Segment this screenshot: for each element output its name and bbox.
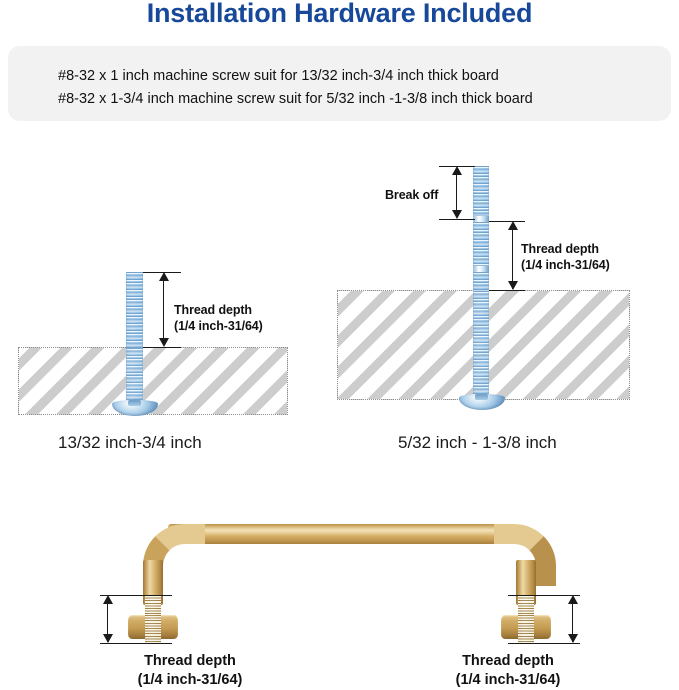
handle-left-arrow-down-icon bbox=[103, 634, 113, 643]
breakoff-arrow-down-icon bbox=[452, 210, 462, 219]
thread-depth-ext-line-bottom-2 bbox=[489, 290, 525, 291]
handle-right-label-line2: (1/4 inch-31/64) bbox=[413, 671, 603, 690]
thread-depth-arrow-down-icon-2 bbox=[508, 281, 518, 290]
handle-foot-thread-right-lower bbox=[518, 615, 534, 643]
thread-depth-label-line1: Thread depth bbox=[174, 302, 263, 318]
handle-top-bar bbox=[168, 524, 511, 544]
breakoff-ext-line-bottom bbox=[439, 219, 475, 220]
handle-right-label-line1: Thread depth bbox=[413, 652, 603, 671]
handle-right-arrow-up-icon bbox=[568, 595, 578, 604]
dimension-arrow-down-icon bbox=[159, 338, 169, 347]
thread-depth-label: Thread depth (1/4 inch-31/64) bbox=[174, 302, 263, 334]
handle-left-thread-depth-label: Thread depth (1/4 inch-31/64) bbox=[95, 652, 285, 690]
handle-foot-thread-left-lower bbox=[145, 615, 161, 643]
screw-breakoff-segment bbox=[473, 166, 489, 216]
spec-line-long-screw: #8-32 x 1-3/4 inch machine screw suit fo… bbox=[58, 91, 533, 107]
screw-shank-embedded-long bbox=[473, 291, 489, 400]
thread-depth-label-2: Thread depth (1/4 inch-31/64) bbox=[521, 241, 610, 273]
thread-depth-label-2-line2: (1/4 inch-31/64) bbox=[521, 257, 610, 273]
breakoff-arrow-up-icon bbox=[452, 166, 462, 175]
dimension-arrow-up-icon bbox=[159, 272, 169, 281]
screw-shank-exposed bbox=[126, 272, 143, 348]
screw-shank-mid bbox=[473, 222, 489, 266]
handle-left-arrow-up-icon bbox=[103, 595, 113, 604]
dimension-ext-line-bottom bbox=[143, 347, 181, 348]
spec-line-short-screw: #8-32 x 1 inch machine screw suit for 13… bbox=[58, 68, 499, 84]
page-title: Installation Hardware Included bbox=[0, 0, 679, 29]
handle-left-ext-line-bottom bbox=[100, 643, 172, 644]
screw-shank-embedded bbox=[126, 348, 143, 407]
thread-depth-ext-line-top-2 bbox=[489, 221, 525, 222]
thread-depth-label-2-line1: Thread depth bbox=[521, 241, 610, 257]
thread-depth-arrow-up-icon-2 bbox=[508, 221, 518, 230]
thread-depth-dimension-line-2 bbox=[512, 223, 513, 289]
handle-left-label-line2: (1/4 inch-31/64) bbox=[95, 671, 285, 690]
breakoff-label: Break off bbox=[385, 187, 438, 203]
handle-right-ext-line-bottom bbox=[508, 643, 580, 644]
board-thickness-caption: 13/32 inch-3/4 inch bbox=[58, 433, 202, 453]
screw-head-slot-long bbox=[475, 394, 488, 400]
handle-right-arrow-down-icon bbox=[568, 634, 578, 643]
screw-shank-above-board bbox=[473, 272, 489, 291]
thread-depth-label-line2: (1/4 inch-31/64) bbox=[174, 318, 263, 334]
handle-left-label-line1: Thread depth bbox=[95, 652, 285, 671]
board-thickness-caption-2: 5/32 inch - 1-3/8 inch bbox=[398, 433, 557, 453]
dimension-line bbox=[163, 274, 164, 345]
screw-head-slot bbox=[128, 400, 141, 406]
handle-right-thread-depth-label: Thread depth (1/4 inch-31/64) bbox=[413, 652, 603, 690]
